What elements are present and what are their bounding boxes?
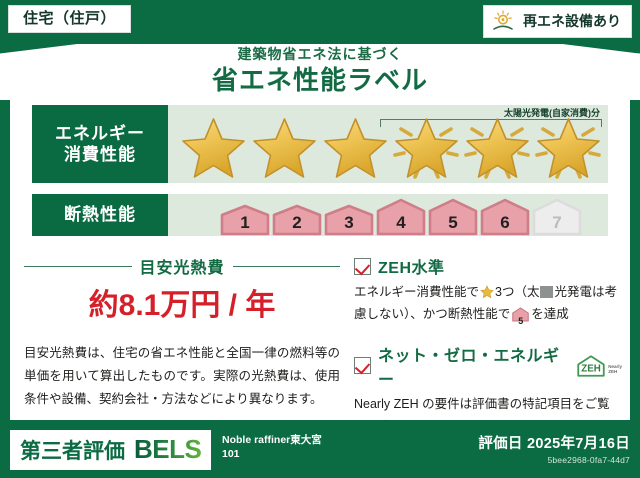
checkmark-icon-zeh-standard [354, 258, 371, 275]
zeh-netzero-heading: ネット・ゼロ・エネルギー ZEH Nearly ZEH [354, 342, 622, 390]
insulation-house-empty: 7 [532, 198, 582, 236]
energy-cost-panel: 目安光熱費 約8.1万円 / 年 目安光熱費は、住宅の省エネ性能と全国一律の燃料… [24, 254, 340, 411]
cost-heading: 目安光熱費 [140, 254, 225, 278]
insulation-house-level: 4 [376, 213, 426, 233]
bels-jp-text: 第三者評価 [20, 435, 125, 465]
redacted-text-block [540, 286, 553, 298]
checkmark-icon-zeh-netzero [354, 357, 371, 374]
footer-bar: 第三者評価 BELS Noble raffiner東大宮 101 評価日 202… [0, 420, 640, 478]
evaluation-date: 評価日 2025年7月16日 [478, 432, 630, 453]
zeh-standard-heading: ZEH水準 [354, 254, 622, 278]
top-bar: 住宅（住戸） 再エネ設備あり [0, 0, 640, 44]
cost-value: 約8.1万円 / 年 [24, 280, 340, 324]
cost-description: 目安光熱費は、住宅の省エネ性能と全国一律の燃料等の単価を用いて算出したものです。… [24, 342, 340, 411]
insulation-performance-body: 1 2 3 4 5 6 7 [168, 194, 608, 236]
star-solar [391, 115, 462, 181]
page-title: 省エネ性能ラベル [0, 60, 640, 97]
divider-left [24, 266, 132, 267]
insulation-house-filled: 6 [480, 198, 530, 236]
zeh-logo: ZEH Nearly ZEH [576, 354, 622, 378]
mini-star-icon [480, 285, 494, 299]
evaluation-info: 評価日 2025年7月16日 5bee2968-0fa7-44d7 [478, 432, 630, 465]
zeh-panel: ZEH水準 エネルギー消費性能で3つ（太光発電は考慮しない）、かつ断熱性能で5を… [354, 254, 622, 442]
insulation-label-text: 断熱性能 [64, 204, 136, 225]
insulation-house-level: 7 [532, 213, 582, 233]
insulation-house-filled: 1 [220, 204, 270, 236]
main-card: エネルギー 消費性能 太陽光発電(自家消費)分 [10, 96, 630, 420]
sun-solar-icon [492, 10, 518, 32]
zeh-standard-title: ZEH水準 [378, 254, 445, 278]
insulation-performance-row: 断熱性能 1 2 3 4 5 6 7 [32, 194, 608, 236]
star-base [249, 115, 320, 181]
renewable-equipment-badge: 再エネ設備あり [483, 5, 632, 38]
energy-performance-body: 太陽光発電(自家消費)分 [168, 105, 608, 183]
insulation-house-filled: 2 [272, 204, 322, 236]
star-solar [533, 115, 604, 181]
mini-house-icon: 5 [512, 307, 529, 330]
insulation-house-filled: 5 [428, 198, 478, 236]
star-solar [462, 115, 533, 181]
insulation-house-filled: 4 [376, 198, 426, 236]
zeh-house-logo-icon: ZEH [576, 354, 606, 378]
insulation-house-level: 3 [324, 213, 374, 233]
mini-house-level: 5 [512, 314, 529, 330]
zeh-logo-sub2: ZEH [608, 369, 622, 375]
property-info: Noble raffiner東大宮 101 [222, 433, 322, 461]
zeh-standard-block: ZEH水準 エネルギー消費性能で3つ（太光発電は考慮しない）、かつ断熱性能で5を… [354, 254, 622, 330]
zeh-logo-subtext: Nearly ZEH [608, 364, 622, 378]
insulation-house-level: 2 [272, 213, 322, 233]
evaluation-id: 5bee2968-0fa7-44d7 [478, 455, 630, 465]
insulation-house-level: 6 [480, 213, 530, 233]
zeh-text-part1: エネルギー消費性能で [354, 285, 479, 299]
zeh-star-count: 3つ（太 [495, 285, 539, 299]
zeh-netzero-title: ネット・ゼロ・エネルギー [378, 342, 566, 390]
star-base [320, 115, 391, 181]
insulation-level-scale: 1 2 3 4 5 6 7 [220, 198, 582, 236]
cost-heading-row: 目安光熱費 [24, 254, 340, 278]
svg-text:ZEH: ZEH [581, 363, 601, 374]
renewable-badge-label: 再エネ設備あり [523, 14, 621, 28]
insulation-house-level: 5 [428, 213, 478, 233]
property-unit: 101 [222, 447, 322, 461]
insulation-house-filled: 3 [324, 204, 374, 236]
energy-label-line2: 消費性能 [64, 144, 136, 165]
insulation-house-level: 1 [220, 213, 270, 233]
bels-en-text: BELS [134, 434, 201, 465]
energy-performance-label: エネルギー 消費性能 [32, 105, 168, 183]
property-name: Noble raffiner東大宮 [222, 433, 322, 447]
insulation-performance-label: 断熱性能 [32, 194, 168, 236]
star-base [178, 115, 249, 181]
energy-star-rating [178, 115, 604, 181]
divider-right [233, 266, 341, 267]
bels-logo: 第三者評価 BELS [10, 430, 211, 470]
energy-performance-row: エネルギー 消費性能 太陽光発電(自家消費)分 [32, 105, 608, 183]
zeh-standard-text: エネルギー消費性能で3つ（太光発電は考慮しない）、かつ断熱性能で5を達成 [354, 282, 622, 330]
zeh-text-part3: を達成 [531, 307, 569, 321]
energy-label-line1: エネルギー [55, 123, 145, 144]
building-type-tag: 住宅（住戸） [8, 5, 131, 33]
